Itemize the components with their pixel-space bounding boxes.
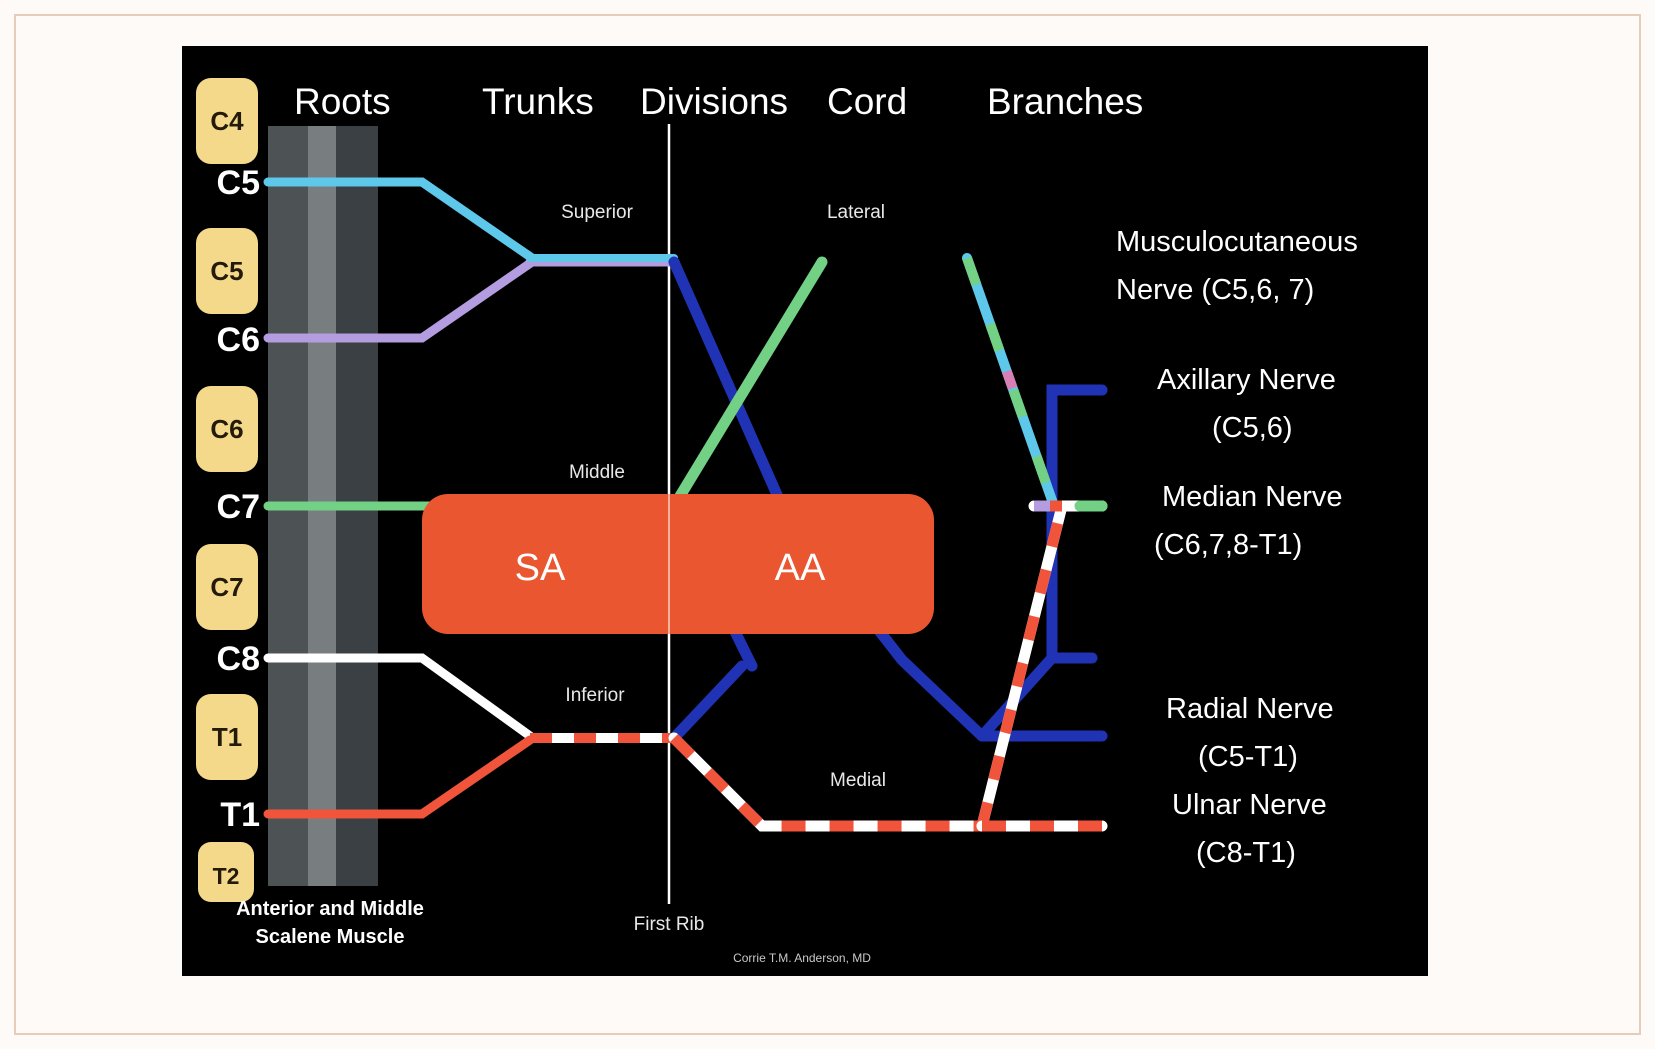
- root-label-c8: C8: [217, 640, 260, 678]
- vertebra-c6: C6: [196, 386, 258, 472]
- svg-text:C7: C7: [210, 572, 243, 602]
- label-medial-cord: Medial: [830, 770, 886, 791]
- root-label-t1: T1: [220, 796, 260, 834]
- header-trunks: Trunks: [482, 81, 594, 122]
- vertebra-t1: T1: [196, 694, 258, 780]
- label-inferior-trunk: Inferior: [565, 685, 625, 706]
- scalene-anterior-block: SA AA: [422, 494, 934, 634]
- label-lateral-cord: Lateral: [827, 202, 885, 223]
- branch-median-line2: (C6,7,8-T1): [1154, 529, 1302, 561]
- svg-text:C4: C4: [210, 106, 244, 136]
- header-roots: Roots: [294, 81, 391, 122]
- svg-text:T2: T2: [213, 863, 240, 889]
- branch-ulnar-line2: (C8-T1): [1196, 837, 1296, 869]
- page-root: Roots Trunks Divisions Cord Branches C4: [0, 0, 1655, 1049]
- label-middle-trunk: Middle: [569, 462, 625, 483]
- svg-text:T1: T1: [212, 722, 242, 752]
- header-cord: Cord: [827, 81, 907, 122]
- label-superior-trunk: Superior: [561, 202, 633, 223]
- svg-text:C5: C5: [210, 256, 243, 286]
- sa-label: SA: [515, 547, 566, 589]
- svg-text:C6: C6: [210, 414, 243, 444]
- branch-axillary-line1: Axillary Nerve: [1157, 364, 1336, 396]
- brachial-plexus-diagram: Roots Trunks Divisions Cord Branches C4: [182, 46, 1428, 976]
- branch-radial-line2: (C5-T1): [1198, 741, 1298, 773]
- author-credit: Corrie T.M. Anderson, MD: [733, 951, 871, 965]
- vertebra-c4: C4: [196, 78, 258, 164]
- label-first-rib: First Rib: [634, 914, 705, 935]
- aa-label: AA: [775, 547, 826, 589]
- vertebra-c7: C7: [196, 544, 258, 630]
- header-branches: Branches: [987, 81, 1143, 122]
- branch-ulnar-line1: Ulnar Nerve: [1172, 789, 1327, 821]
- header-divisions: Divisions: [640, 81, 788, 122]
- branch-radial-line1: Radial Nerve: [1166, 693, 1334, 725]
- vertebra-c5: C5: [196, 228, 258, 314]
- branch-median-line1: Median Nerve: [1162, 481, 1343, 513]
- vertebra-t2: T2: [198, 842, 254, 902]
- branch-axillary-line2: (C5,6): [1212, 412, 1293, 444]
- root-label-c5: C5: [217, 164, 260, 202]
- root-label-c6: C6: [217, 321, 260, 359]
- branch-musculocutaneous-line1: Musculocutaneous: [1116, 226, 1358, 258]
- svg-text:Anterior and Middle: Anterior and Middle: [236, 898, 424, 920]
- branch-musculocutaneous-line2: Nerve (C5,6, 7): [1116, 274, 1314, 306]
- root-label-c7: C7: [217, 488, 260, 526]
- svg-text:Scalene Muscle: Scalene Muscle: [256, 926, 405, 948]
